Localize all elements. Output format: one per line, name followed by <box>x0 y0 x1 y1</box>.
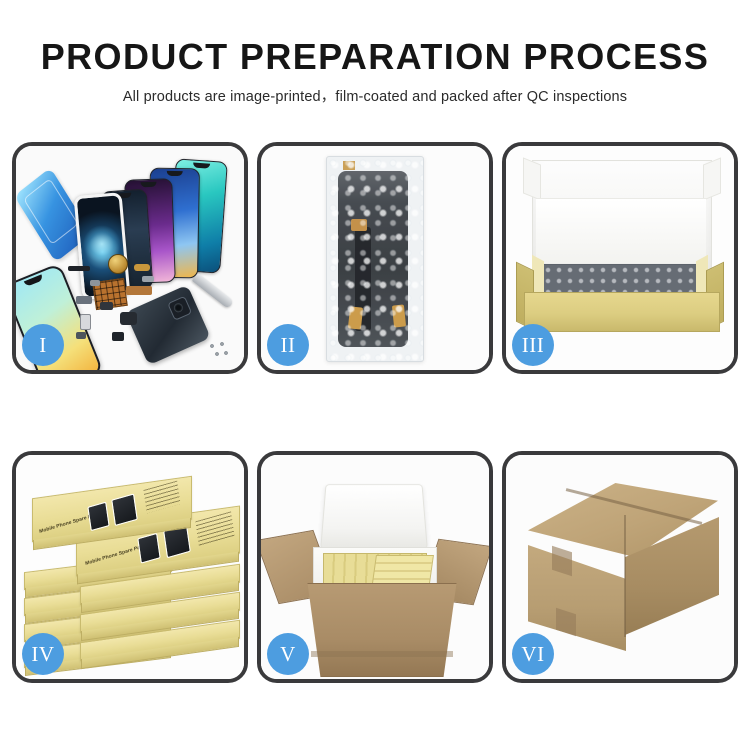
carton-seam <box>311 651 453 657</box>
box-front-panel <box>524 292 720 332</box>
screws-group <box>208 342 230 358</box>
spare-part <box>90 280 100 286</box>
phone-back-cover <box>125 285 211 366</box>
step-badge-6: VI <box>512 633 554 675</box>
flex-cable-part <box>126 286 152 295</box>
tweezers-tool <box>192 273 234 309</box>
header: PRODUCT PREPARATION PROCESS All products… <box>0 0 750 106</box>
vibration-motor-part <box>108 254 128 274</box>
step-badge-4: IV <box>22 633 64 675</box>
step-panel-5: V <box>257 451 493 683</box>
foam-liner <box>536 198 706 263</box>
spare-part <box>76 296 92 304</box>
box-product-thumbnail <box>87 502 109 532</box>
box-spec-text-lines <box>195 511 234 546</box>
step-badge-3: III <box>512 324 554 366</box>
step-panel-3: III <box>502 142 738 374</box>
camera-lens-icon <box>167 296 192 321</box>
foam-box-lid <box>320 484 428 549</box>
page-title: PRODUCT PREPARATION PROCESS <box>0 38 750 76</box>
spare-part <box>80 314 91 330</box>
step-badge-5: V <box>267 633 309 675</box>
step-panel-6: VI <box>502 451 738 683</box>
step-badge-2: II <box>267 324 309 366</box>
box-product-thumbnail <box>111 493 138 526</box>
carton-body <box>301 583 463 677</box>
bubble-wrap-bag <box>326 156 424 362</box>
bubble-texture-overlay <box>327 157 423 361</box>
step-panel-1: I <box>12 142 248 374</box>
spare-part <box>142 276 154 282</box>
step-badge-1: I <box>22 324 64 366</box>
product-preparation-infographic: PRODUCT PREPARATION PROCESS All products… <box>0 0 750 750</box>
spare-part <box>134 264 150 271</box>
carton-vertical-edge <box>624 515 626 637</box>
spare-part <box>100 302 113 310</box>
step-panel-2: II <box>257 142 493 374</box>
box-spec-text-lines <box>143 481 180 514</box>
spare-part <box>120 312 137 325</box>
spare-part <box>76 332 86 339</box>
step-panel-4: Mobile Phone Spare Parts Mobile Phone Sp… <box>12 451 248 683</box>
spare-part <box>68 266 90 271</box>
box-product-thumbnail <box>137 533 160 564</box>
process-steps-grid: I II <box>12 142 738 683</box>
spare-part <box>112 332 124 341</box>
page-subtitle: All products are image-printed，film-coat… <box>0 85 750 106</box>
